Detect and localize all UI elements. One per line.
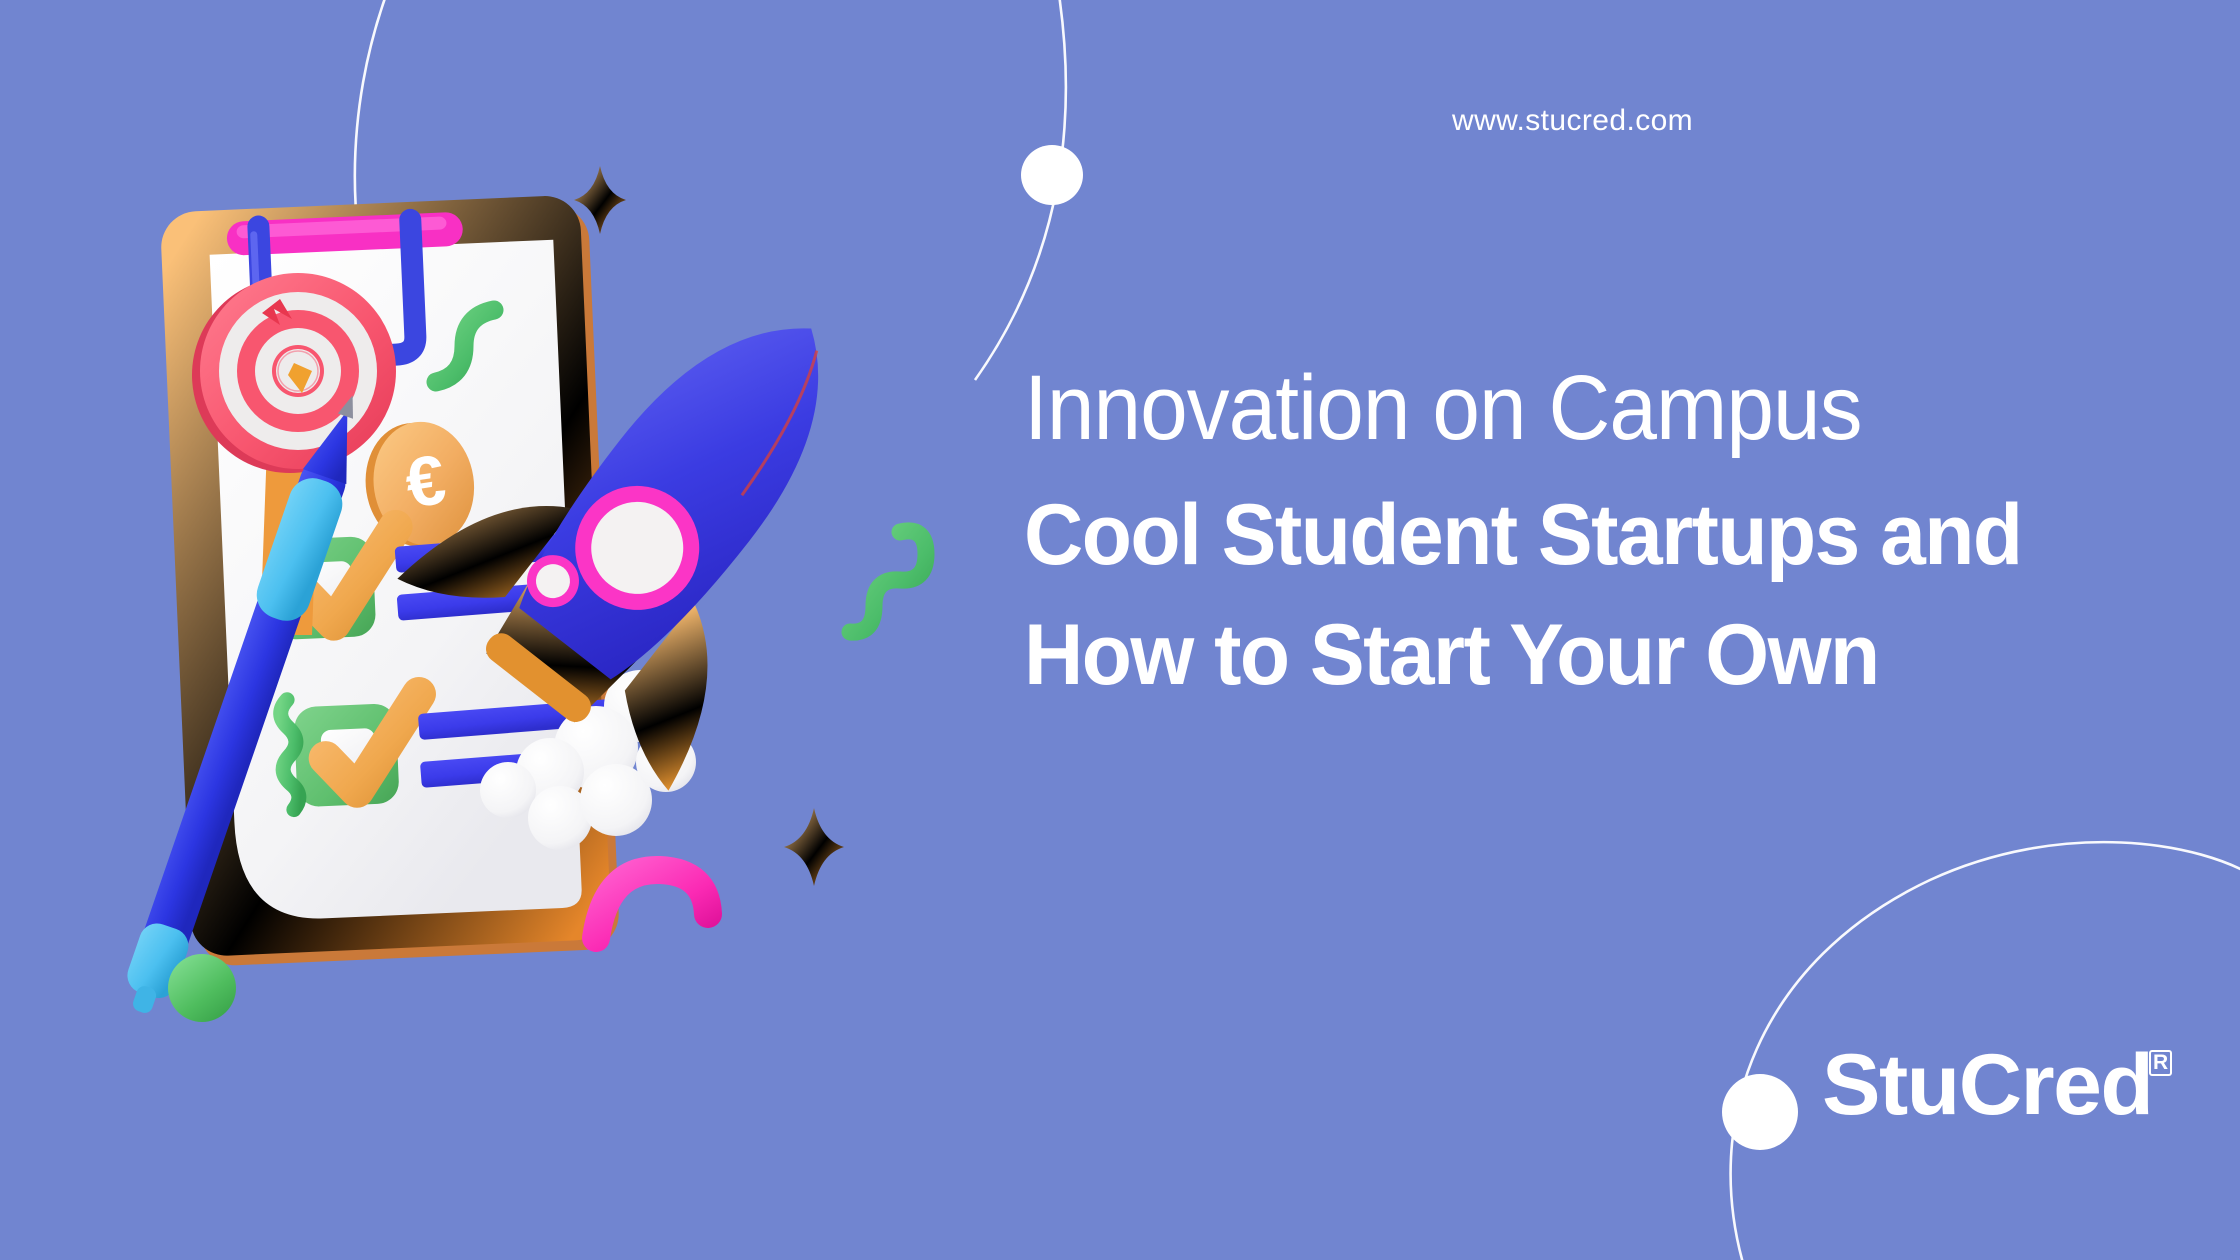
website-url[interactable]: www.stucred.com: [1452, 104, 1693, 138]
stucred-logo[interactable]: StuCred R: [1822, 1046, 2172, 1125]
decor-dot-top-icon: [1021, 145, 1083, 205]
hero-illustration: €: [80, 150, 1000, 1090]
decor-dot-bottom-icon: [1722, 1074, 1798, 1150]
green-sphere: [168, 954, 236, 1022]
logo-wordmark: StuCred: [1822, 1046, 2152, 1125]
promo-banner: €: [0, 0, 2240, 1260]
smoke-puff: [480, 762, 536, 818]
headline-block: Innovation on Campus Cool Student Startu…: [1024, 362, 2154, 698]
sparkle-bottom-icon: [784, 808, 844, 886]
squiggle-green-right-icon: [850, 531, 926, 632]
headline-line-2: How to Start Your Own: [1024, 612, 2103, 698]
headline-eyebrow: Innovation on Campus: [1024, 362, 2075, 454]
headline-line-1: Cool Student Startups and: [1024, 492, 2103, 578]
